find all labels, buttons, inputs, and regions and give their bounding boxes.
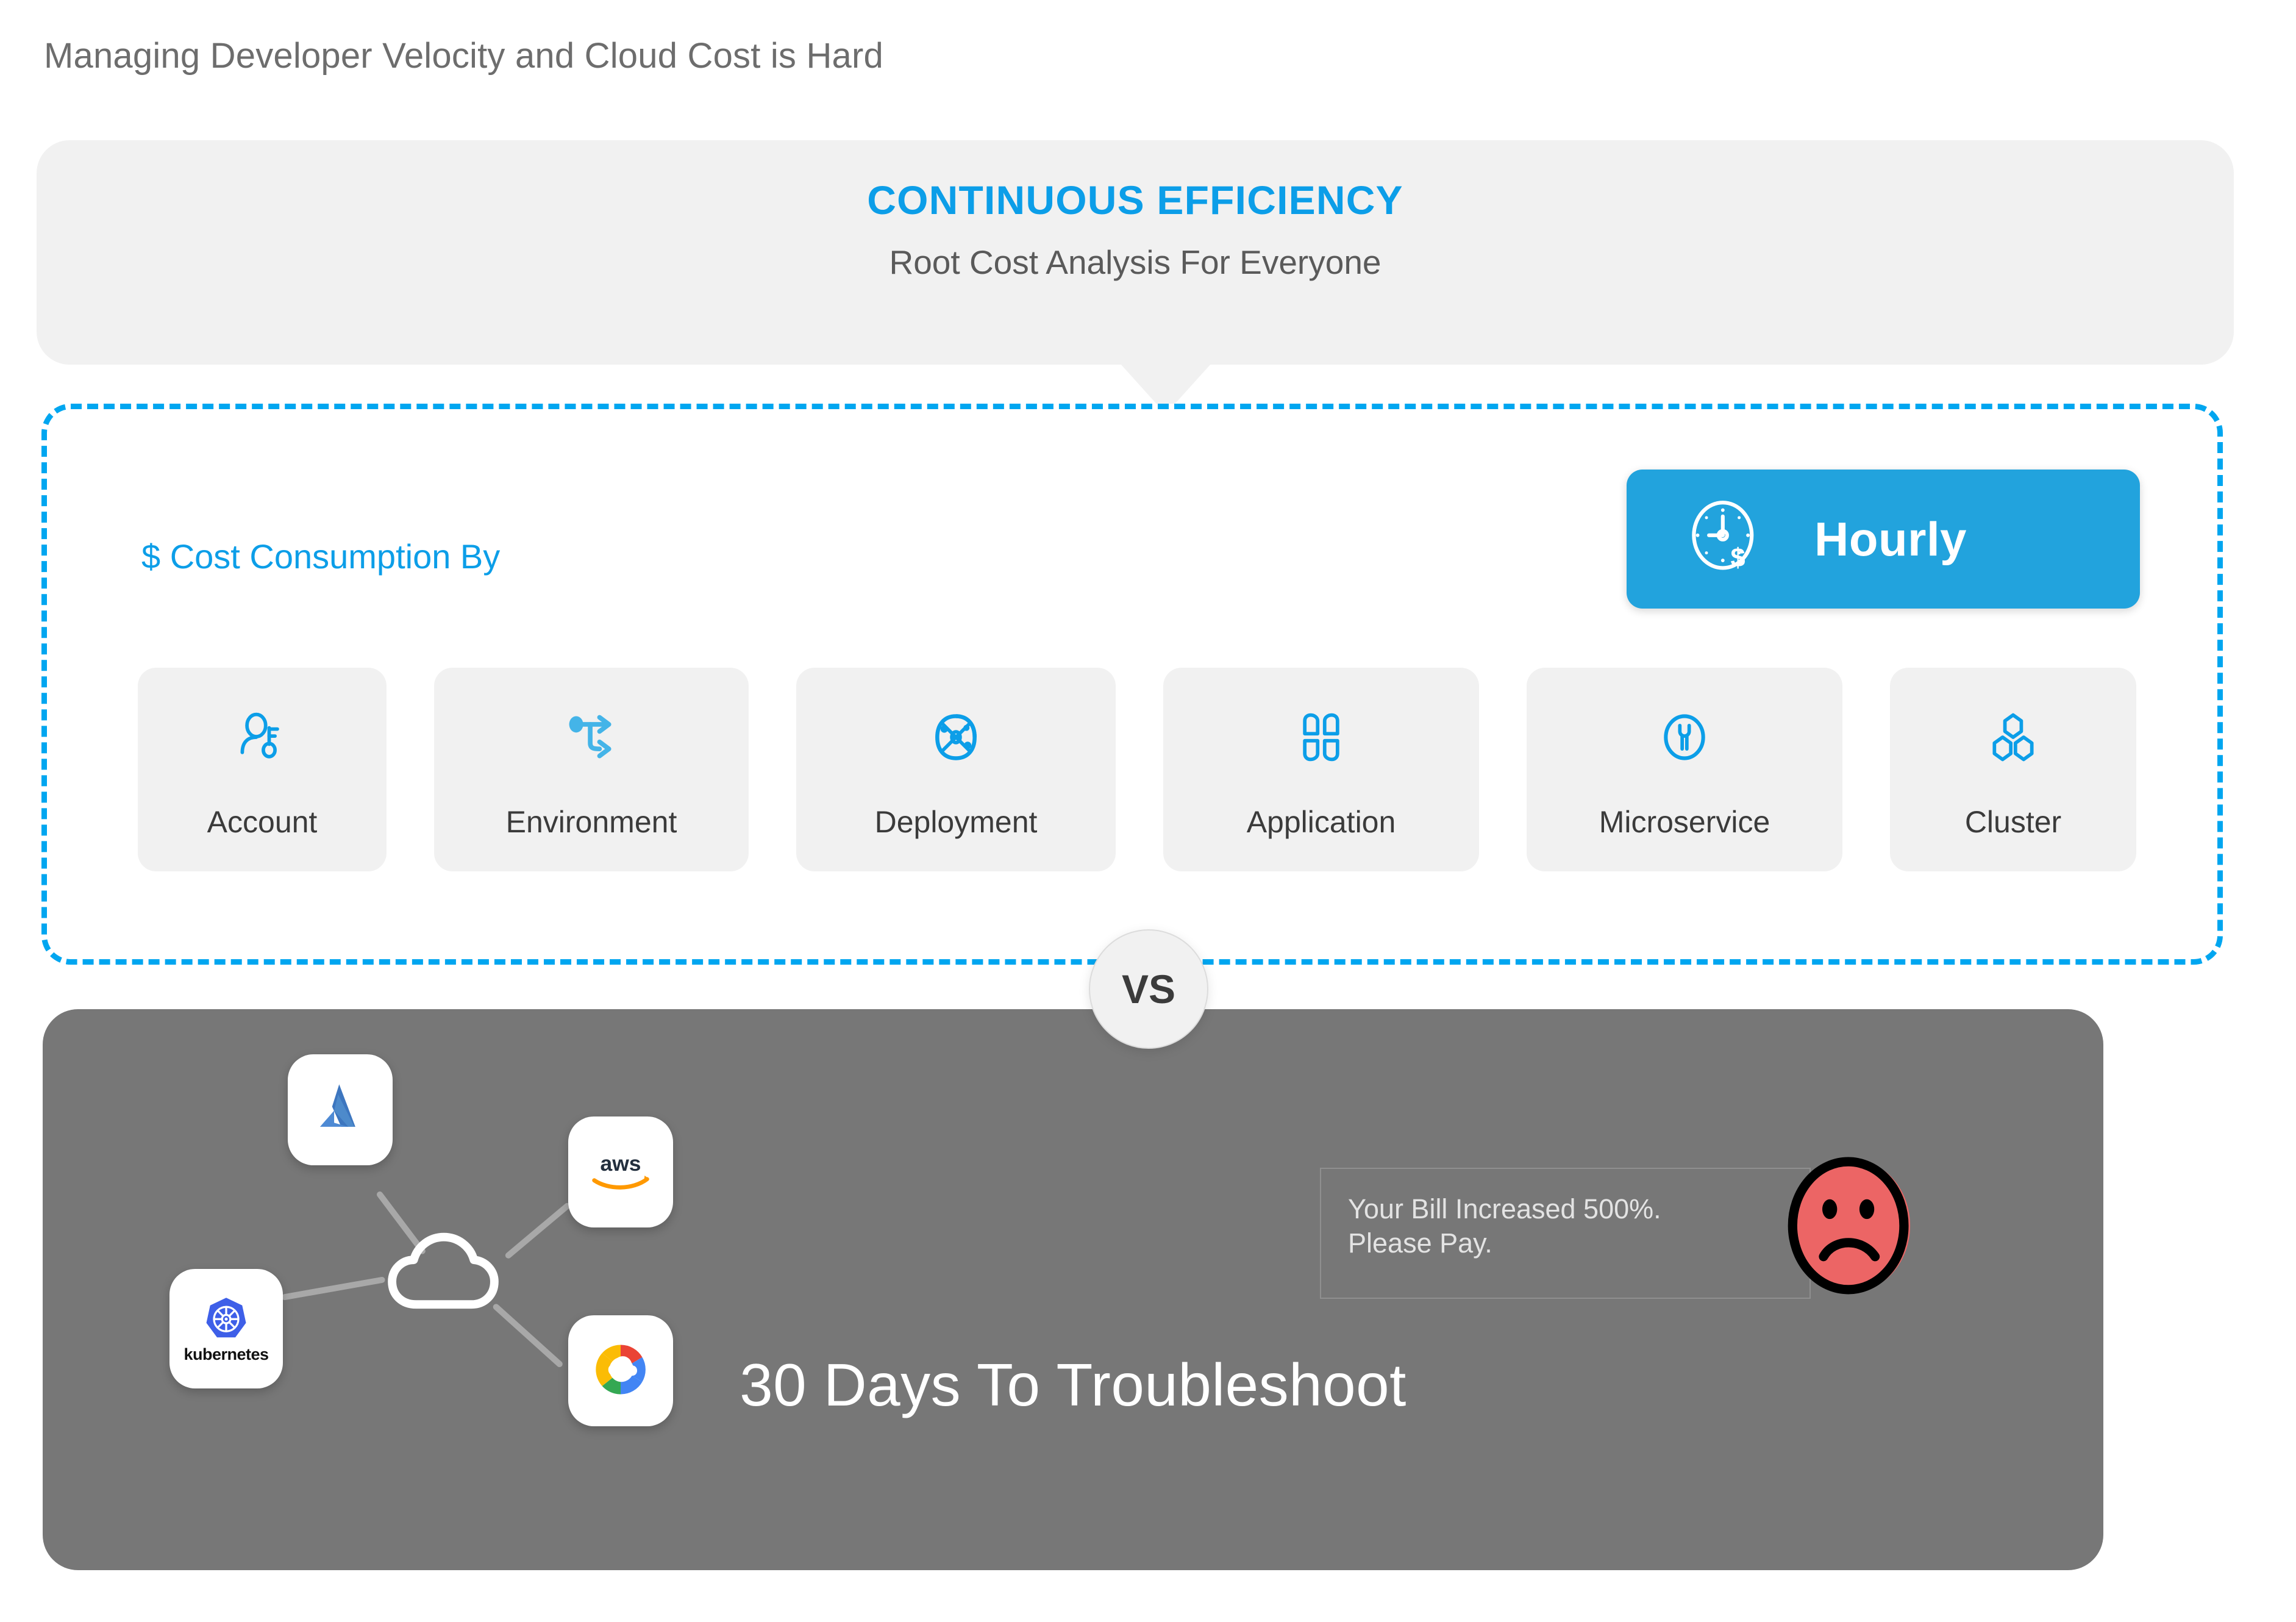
bill-line-1: Your Bill Increased 500%. bbox=[1348, 1192, 1783, 1226]
continuous-efficiency-banner: CONTINUOUS EFFICIENCY Root Cost Analysis… bbox=[37, 140, 2234, 365]
card-microservice[interactable]: Microservice bbox=[1527, 668, 1842, 871]
cloud-icon bbox=[382, 1223, 504, 1314]
hourly-button-label: Hourly bbox=[1814, 512, 1967, 567]
card-application[interactable]: Application bbox=[1163, 668, 1479, 871]
svg-text:$: $ bbox=[1731, 543, 1745, 573]
card-label: Cluster bbox=[1890, 804, 2136, 840]
hexagon-cluster-icon bbox=[1985, 709, 2041, 765]
card-environment[interactable]: Environment bbox=[434, 668, 749, 871]
page-title: Managing Developer Velocity and Cloud Co… bbox=[44, 35, 883, 76]
google-cloud-logo-tile bbox=[568, 1315, 673, 1426]
card-label: Environment bbox=[434, 804, 749, 840]
category-card-row: Account Environment bbox=[0, 668, 2296, 875]
wrench-circle-icon bbox=[1656, 709, 1713, 765]
kubernetes-logo-tile: kubernetes bbox=[169, 1269, 283, 1388]
aws-logo-tile: aws bbox=[568, 1116, 673, 1227]
person-key-icon bbox=[234, 709, 290, 765]
google-cloud-logo bbox=[588, 1337, 654, 1406]
azure-logo bbox=[308, 1076, 373, 1144]
card-label: Microservice bbox=[1527, 804, 1842, 840]
azure-logo-tile bbox=[288, 1054, 393, 1165]
multi-cloud-diagram: aws bbox=[116, 1040, 762, 1491]
connector-kubernetes bbox=[281, 1276, 385, 1301]
cost-consumption-label: $ Cost Consumption By bbox=[141, 537, 500, 576]
problem-panel: aws bbox=[43, 1009, 2103, 1570]
bill-line-2: Please Pay. bbox=[1348, 1226, 1783, 1260]
hourly-button[interactable]: $ Hourly bbox=[1627, 470, 2140, 609]
aws-logo: aws bbox=[585, 1149, 657, 1196]
branching-arrows-icon bbox=[563, 709, 619, 765]
atom-molecule-icon bbox=[928, 709, 984, 765]
card-account[interactable]: Account bbox=[138, 668, 387, 871]
banner-subtitle: Root Cost Analysis For Everyone bbox=[37, 243, 2234, 282]
kubernetes-logo: kubernetes bbox=[184, 1294, 268, 1364]
sad-face-icon bbox=[1783, 1156, 1917, 1296]
card-label: Account bbox=[138, 804, 387, 840]
card-label: Application bbox=[1163, 804, 1479, 840]
four-petal-grid-icon bbox=[1293, 709, 1349, 765]
bill-notice-box: Your Bill Increased 500%. Please Pay. bbox=[1320, 1168, 1811, 1299]
clock-dollar-icon: $ bbox=[1686, 499, 1767, 579]
vs-badge: VS bbox=[1089, 929, 1208, 1049]
kubernetes-logo-text: kubernetes bbox=[184, 1345, 268, 1364]
card-deployment[interactable]: Deployment bbox=[796, 668, 1116, 871]
connector-aws bbox=[504, 1202, 572, 1260]
troubleshoot-headline: 30 Days To Troubleshoot bbox=[43, 1351, 2103, 1420]
banner-title: CONTINUOUS EFFICIENCY bbox=[37, 177, 2234, 223]
card-label: Deployment bbox=[796, 804, 1116, 840]
svg-text:aws: aws bbox=[601, 1151, 641, 1176]
card-cluster[interactable]: Cluster bbox=[1890, 668, 2136, 871]
